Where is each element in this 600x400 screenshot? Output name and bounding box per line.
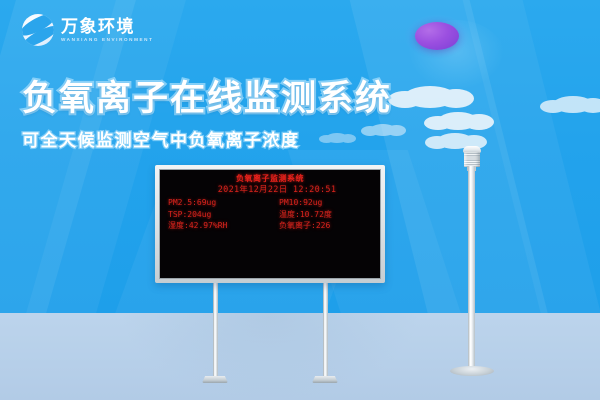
billboard-leg-base <box>202 376 228 383</box>
led-screen-title: 负氧离子监测系统 <box>168 174 372 184</box>
brand-name-en: WANXIANG ENVIRONMENT <box>61 35 154 42</box>
led-datetime: 2021年12月22日 12:20:51 <box>168 184 372 196</box>
cloud-icon <box>370 124 396 136</box>
brand-logo: 万象环境 WANXIANG ENVIRONMENT <box>22 14 154 46</box>
led-reading-pm25: PM2.5:69ug <box>168 197 267 209</box>
cloud-icon <box>326 133 348 143</box>
purple-orb-icon <box>415 22 459 50</box>
globe-swoosh-logo-icon <box>22 14 54 46</box>
billboard-leg <box>213 283 218 378</box>
led-reading-temperature: 温度:10.72度 <box>273 209 372 221</box>
sensor-pole-base <box>450 366 494 376</box>
sensor-pole <box>468 166 475 372</box>
air-quality-sensor-pole-icon <box>464 152 480 167</box>
led-reading-tsp: TSP:204ug <box>168 209 267 221</box>
cloud-icon <box>438 112 478 130</box>
led-readings-grid: PM2.5:69ug PM10:92ug TSP:204ug 温度:10.72度… <box>168 197 372 232</box>
billboard-leg <box>323 283 328 378</box>
cloud-icon <box>553 96 593 113</box>
led-screen: 负氧离子监测系统 2021年12月22日 12:20:51 PM2.5:69ug… <box>159 169 381 279</box>
led-reading-negative-ion: 负氧离子:226 <box>273 220 372 232</box>
page-title: 负氧离子在线监测系统 <box>22 70 392 121</box>
ground-shadow <box>120 313 420 400</box>
led-reading-pm10: PM10:92ug <box>273 197 372 209</box>
led-reading-humidity: 湿度:42.97%RH <box>168 220 267 232</box>
promo-banner: 万象环境 WANXIANG ENVIRONMENT 负氧离子在线监测系统 可全天… <box>0 0 600 400</box>
page-subtitle: 可全天候监测空气中负氧离子浓度 <box>22 126 300 151</box>
billboard-leg-base <box>312 376 338 383</box>
led-billboard: 负氧离子监测系统 2021年12月22日 12:20:51 PM2.5:69ug… <box>155 165 385 283</box>
brand-name-cn: 万象环境 <box>61 18 154 36</box>
cloud-icon <box>404 86 456 108</box>
